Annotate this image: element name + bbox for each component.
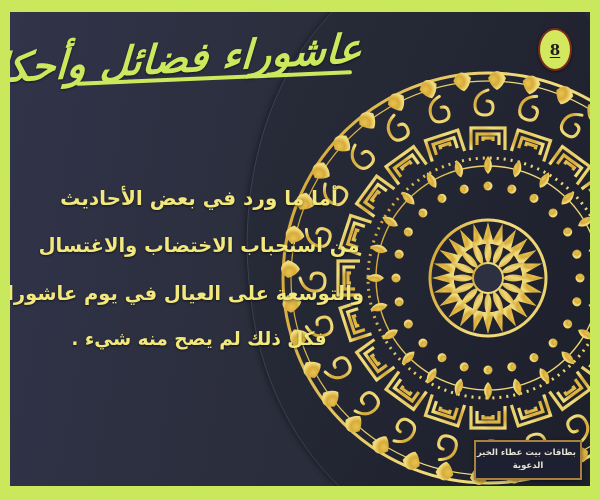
- title-block: عاشوراء فضائل وأحكام: [62, 26, 362, 80]
- body-line-4: فكل ذلك لم يصح منه شيء .: [34, 331, 364, 350]
- credit-badge: بطاقات بيت عطاء الخير الدعوية: [474, 440, 582, 480]
- islamic-card: عاشوراء فضائل وأحكام 8 أما ما ورد في بعض…: [0, 0, 600, 500]
- card-inner-panel: عاشوراء فضائل وأحكام 8 أما ما ورد في بعض…: [10, 12, 590, 486]
- page-number-badge: 8: [538, 28, 572, 71]
- body-line-3: والتوسعة على العيال في يوم عاشوراء: [34, 284, 364, 304]
- page-number-value: 8: [550, 41, 560, 59]
- credit-line-2: الدعوية: [480, 460, 576, 472]
- body-text-block: أما ما ورد في بعض الأحاديث من استحباب ال…: [34, 188, 364, 350]
- credit-line-1: بطاقات بيت عطاء الخير: [480, 447, 576, 459]
- body-line-1: أما ما ورد في بعض الأحاديث: [34, 188, 364, 208]
- body-line-2: من استحباب الاختضاب والاغتسال: [34, 236, 364, 256]
